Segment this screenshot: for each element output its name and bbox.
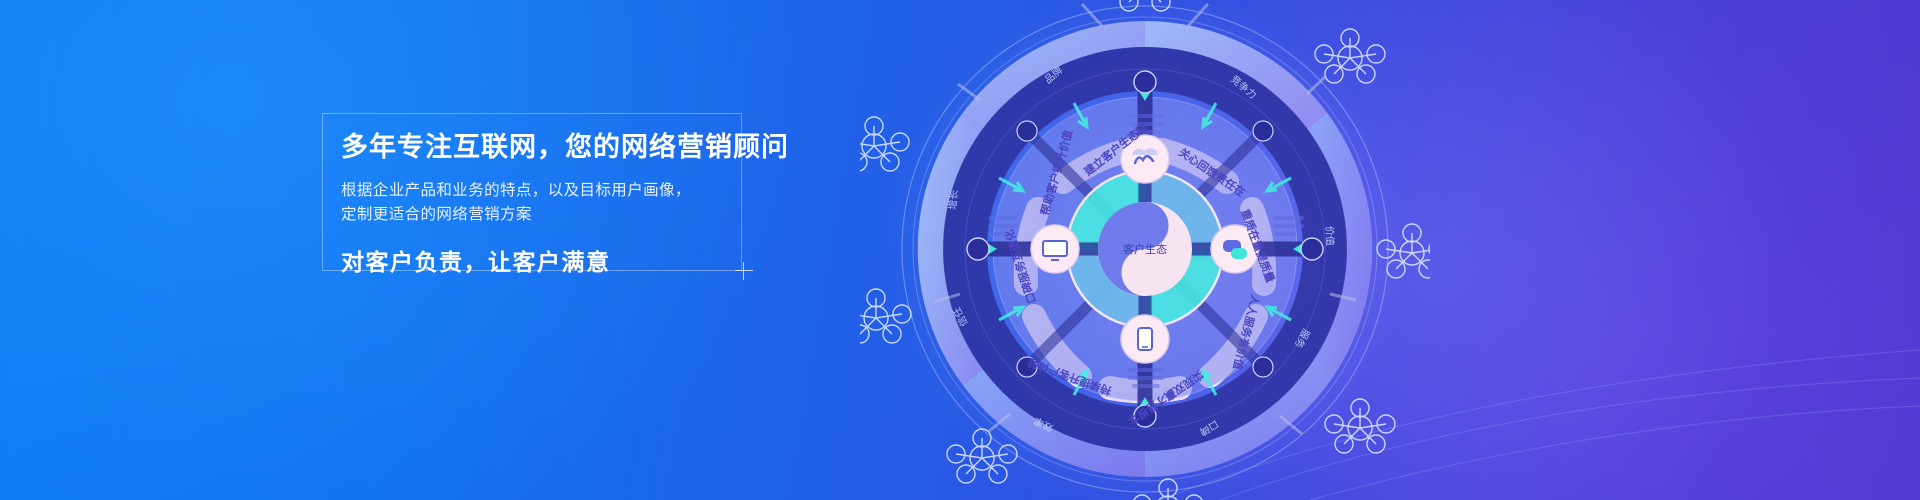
hero-banner: 多年专注互联网，您的网络营销顾问 根据企业产品和业务的特点，以及目标用户画像， … bbox=[0, 0, 1920, 500]
wheel-center-label: 客户生态 bbox=[1123, 242, 1167, 256]
wheel-hub-icon-mobile-phone-icon bbox=[1121, 315, 1169, 363]
hero-tagline: 对客户负责，让客户满意 bbox=[341, 243, 861, 277]
wheel-hub-icon-monitor-icon bbox=[1031, 225, 1079, 273]
hero-subtitle-line-2: 定制更适合的网络营销方案 bbox=[341, 203, 861, 227]
hero-text-box: 多年专注互联网，您的网络营销顾问 根据企业产品和业务的特点，以及目标用户画像， … bbox=[322, 113, 742, 271]
hero-subtitle-line-1: 根据企业产品和业务的特点，以及目标用户画像， bbox=[341, 179, 861, 203]
wheel-svg: 客户生态 bbox=[860, 0, 1430, 500]
marketing-ecosystem-wheel: 客户生态 bbox=[860, 0, 1430, 500]
hero-text-content: 多年专注互联网，您的网络营销顾问 根据企业产品和业务的特点，以及目标用户画像， … bbox=[341, 132, 861, 277]
hero-subtitle: 根据企业产品和业务的特点，以及目标用户画像， 定制更适合的网络营销方案 bbox=[341, 179, 861, 227]
page-title: 多年专注互联网，您的网络营销顾问 bbox=[341, 132, 861, 163]
outer-ring-label-2: 价值 bbox=[1323, 226, 1337, 246]
